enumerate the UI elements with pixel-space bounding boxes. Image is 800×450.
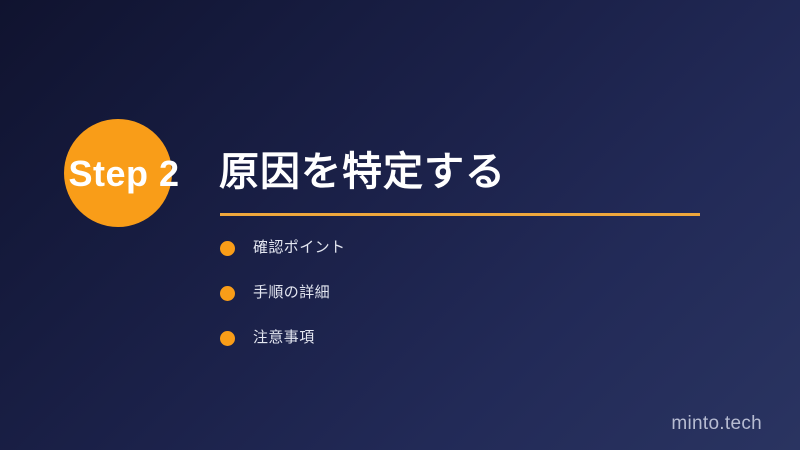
page-title: 原因を特定する [219,148,506,196]
step-badge-label: Step 2 [44,152,204,196]
bullet-dot-icon [220,241,235,256]
list-item-label: 手順の詳細 [253,283,330,303]
bullet-list: 確認ポイント 手順の詳細 注意事項 [220,238,680,373]
list-item: 確認ポイント [220,238,680,283]
list-item: 手順の詳細 [220,283,680,328]
footer-watermark: minto.tech [671,413,762,435]
title-divider [220,213,700,216]
bullet-dot-icon [220,331,235,346]
list-item-label: 確認ポイント [253,238,345,258]
list-item-label: 注意事項 [253,328,315,348]
slide-canvas: Step 2 原因を特定する 確認ポイント 手順の詳細 注意事項 minto.t… [0,0,800,450]
bullet-dot-icon [220,286,235,301]
list-item: 注意事項 [220,328,680,373]
